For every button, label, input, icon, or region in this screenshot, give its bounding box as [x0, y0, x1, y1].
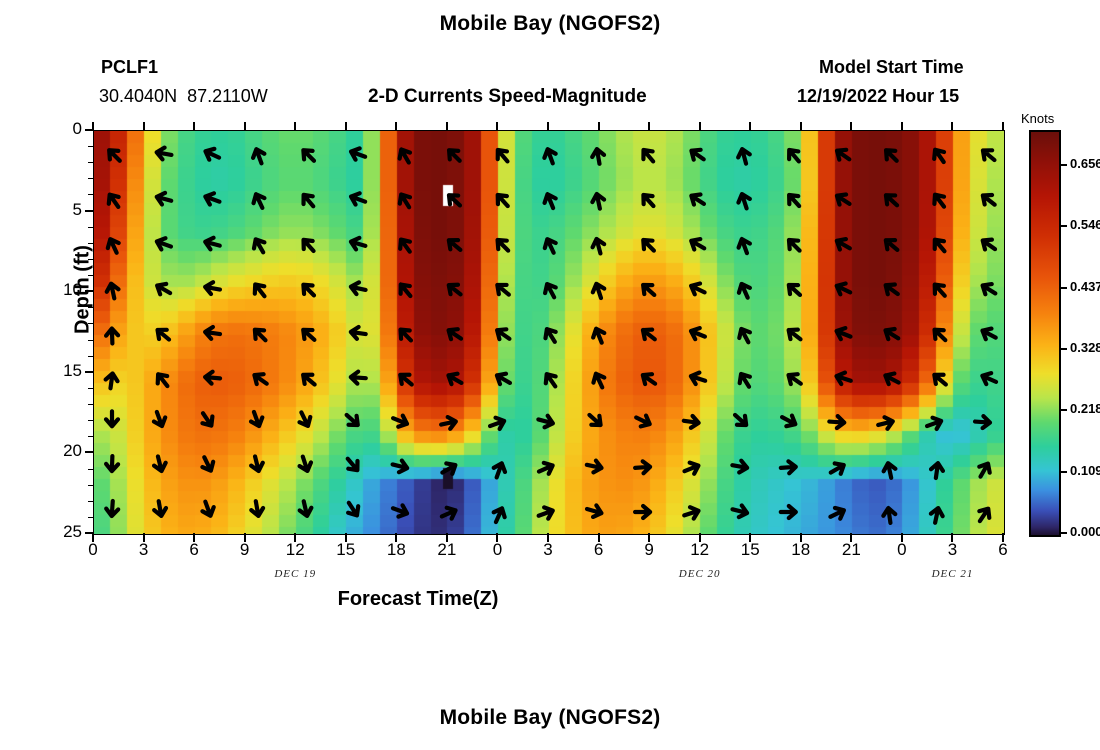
current-direction-arrow	[829, 416, 845, 429]
x-axis-tick-label: 0	[477, 540, 517, 560]
current-direction-arrow	[251, 370, 270, 388]
current-direction-arrow	[251, 147, 267, 165]
current-direction-arrow	[542, 281, 560, 300]
y-axis-minor-tick	[88, 388, 94, 389]
current-direction-arrow	[440, 416, 457, 431]
current-direction-arrow	[396, 147, 414, 166]
current-direction-arrow	[105, 237, 122, 256]
current-direction-arrow	[156, 146, 173, 160]
current-direction-arrow	[445, 325, 464, 343]
y-axis-tick	[85, 290, 94, 292]
current-direction-arrow	[785, 370, 804, 388]
current-direction-arrow	[491, 461, 507, 479]
colorbar-tick-label: 0.65625	[1070, 156, 1100, 171]
current-direction-arrow	[199, 455, 216, 474]
current-direction-arrow	[493, 191, 512, 210]
current-direction-arrow	[828, 505, 847, 522]
x-axis-top-tick	[850, 122, 852, 131]
x-axis-tick	[395, 533, 397, 542]
y-axis-tick-label: 0	[36, 119, 82, 139]
x-axis-tick-label: 21	[427, 540, 467, 560]
colorbar-tick-label: 0.4375	[1070, 279, 1100, 294]
x-axis-tick-label: 18	[781, 540, 821, 560]
current-direction-arrow	[542, 371, 560, 390]
current-direction-arrow	[105, 373, 119, 390]
current-direction-arrow	[445, 236, 464, 255]
current-direction-arrow	[731, 504, 748, 519]
current-direction-arrow	[537, 460, 556, 477]
colorbar-tick	[1059, 164, 1067, 166]
current-direction-arrow	[882, 507, 896, 524]
y-axis-tick-label: 10	[36, 280, 82, 300]
x-axis-tick	[547, 533, 549, 542]
bottom-title: Mobile Bay (NGOFS2)	[0, 706, 1100, 730]
x-axis-top-tick	[446, 122, 448, 131]
current-direction-arrow	[106, 456, 119, 471]
current-direction-arrow	[689, 370, 707, 386]
x-axis-tick	[699, 533, 701, 542]
current-direction-arrow	[834, 191, 853, 209]
current-direction-arrow	[349, 236, 367, 252]
x-axis-tick-label: 12	[275, 540, 315, 560]
current-direction-arrow	[639, 280, 658, 299]
current-arrow-overlay	[94, 131, 1004, 534]
current-direction-arrow	[248, 410, 264, 428]
current-direction-arrow	[731, 410, 750, 429]
current-direction-arrow	[493, 280, 512, 299]
y-axis-tick-label: 15	[36, 361, 82, 381]
current-direction-arrow	[542, 326, 560, 345]
x-axis-tick-label: 9	[225, 540, 265, 560]
x-axis-tick	[345, 533, 347, 542]
y-axis-minor-tick	[88, 243, 94, 244]
current-direction-arrow	[542, 192, 559, 210]
x-axis-top-tick	[345, 122, 347, 131]
current-direction-arrow	[396, 370, 415, 389]
x-axis-tick	[143, 533, 145, 542]
current-direction-arrow	[688, 146, 707, 164]
current-direction-arrow	[105, 282, 120, 299]
current-direction-arrow	[106, 328, 119, 343]
current-direction-arrow	[688, 280, 707, 297]
x-axis-top-tick	[598, 122, 600, 131]
current-direction-arrow	[785, 325, 804, 344]
current-direction-arrow	[493, 236, 512, 255]
y-axis-minor-tick	[88, 420, 94, 421]
current-direction-arrow	[930, 325, 949, 344]
current-direction-arrow	[537, 505, 555, 521]
current-direction-arrow	[834, 236, 853, 254]
current-direction-arrow	[349, 191, 367, 207]
current-direction-arrow	[198, 410, 216, 429]
current-direction-arrow	[781, 506, 796, 518]
current-direction-arrow	[980, 370, 999, 387]
current-direction-arrow	[979, 236, 998, 254]
current-direction-arrow	[882, 236, 901, 255]
current-direction-arrow	[299, 281, 318, 300]
current-direction-arrow	[929, 507, 944, 524]
current-direction-arrow	[200, 500, 216, 518]
x-axis-top-tick	[92, 122, 94, 131]
current-direction-arrow	[639, 325, 658, 344]
y-axis-minor-tick	[88, 146, 94, 147]
current-direction-arrow	[344, 500, 362, 519]
y-axis-minor-tick	[88, 517, 94, 518]
current-direction-arrow	[585, 410, 604, 429]
heatmap-plot-area	[93, 130, 1005, 535]
current-direction-arrow	[930, 281, 949, 300]
y-axis-tick	[85, 451, 94, 453]
current-direction-arrow	[736, 192, 752, 210]
current-direction-arrow	[683, 415, 700, 429]
current-direction-arrow	[780, 461, 796, 474]
x-axis-top-tick	[143, 122, 145, 131]
current-direction-arrow	[882, 146, 901, 165]
current-direction-arrow	[591, 237, 606, 255]
x-axis-tick	[951, 533, 953, 542]
current-direction-arrow	[930, 370, 949, 389]
current-direction-arrow	[490, 506, 507, 525]
x-axis-day-label: DEC 20	[655, 568, 745, 580]
current-direction-arrow	[882, 462, 897, 479]
x-axis-top-tick	[800, 122, 802, 131]
current-direction-arrow	[396, 325, 415, 344]
current-direction-arrow	[155, 236, 173, 252]
x-axis-top-tick	[1002, 122, 1004, 131]
current-direction-arrow	[979, 280, 998, 298]
current-direction-arrow	[106, 501, 119, 517]
x-axis-top-tick	[395, 122, 397, 131]
current-direction-arrow	[493, 146, 512, 165]
x-axis-tick-label: 12	[680, 540, 720, 560]
current-direction-arrow	[439, 460, 458, 478]
y-axis-minor-tick	[88, 340, 94, 341]
current-direction-arrow	[297, 455, 313, 473]
current-direction-arrow	[542, 237, 559, 256]
x-axis-tick	[496, 533, 498, 542]
x-axis-tick-label: 9	[629, 540, 669, 560]
current-direction-arrow	[975, 505, 993, 524]
current-direction-arrow	[689, 325, 707, 342]
model-start-time-label: Model Start Time	[819, 57, 964, 78]
current-direction-arrow	[834, 280, 853, 297]
current-direction-arrow	[882, 191, 901, 210]
x-axis-tick	[850, 533, 852, 542]
x-axis-tick	[901, 533, 903, 542]
current-direction-arrow	[350, 371, 366, 384]
y-axis-minor-tick	[88, 469, 94, 470]
x-axis-tick-label: 15	[326, 540, 366, 560]
current-direction-arrow	[343, 455, 362, 474]
chart-subtitle: 2-D Currents Speed-Magnitude	[368, 86, 647, 108]
current-direction-arrow	[591, 327, 608, 345]
x-axis-top-tick	[749, 122, 751, 131]
current-direction-arrow	[688, 236, 707, 254]
colorbar-tick-label: 0.00000	[1070, 524, 1100, 539]
current-direction-arrow	[785, 280, 804, 299]
current-direction-arrow	[203, 191, 221, 207]
x-axis-tick-label: 18	[376, 540, 416, 560]
current-direction-arrow	[682, 460, 700, 477]
current-direction-arrow	[154, 280, 173, 298]
colorbar-tick-label: 0.328125	[1070, 340, 1100, 355]
current-direction-arrow	[251, 236, 269, 255]
x-axis-tick-label: 3	[124, 540, 164, 560]
x-axis-label-wrap: Forecast Time(Z)	[0, 588, 968, 611]
current-direction-arrow	[488, 415, 506, 431]
current-direction-arrow	[639, 370, 658, 388]
page-title: Mobile Bay (NGOFS2)	[0, 12, 1100, 36]
current-direction-arrow	[152, 455, 167, 472]
x-axis-tick-label: 3	[528, 540, 568, 560]
current-direction-arrow	[153, 371, 172, 390]
model-start-time-value: 12/19/2022 Hour 15	[797, 86, 959, 107]
current-direction-arrow	[391, 413, 409, 430]
x-axis-top-tick	[951, 122, 953, 131]
current-direction-arrow	[445, 146, 464, 165]
current-direction-arrow	[979, 146, 998, 165]
current-direction-arrow	[925, 415, 943, 431]
current-direction-arrow	[835, 370, 853, 386]
y-axis-minor-tick	[88, 227, 94, 228]
current-direction-arrow	[834, 325, 852, 342]
y-axis-minor-tick	[88, 485, 94, 486]
x-axis-tick	[446, 533, 448, 542]
current-direction-arrow	[639, 236, 658, 255]
current-direction-arrow	[979, 191, 998, 210]
current-direction-arrow	[445, 280, 464, 299]
current-direction-arrow	[249, 455, 264, 472]
y-axis-minor-tick	[88, 436, 94, 437]
current-direction-arrow	[350, 326, 367, 340]
current-direction-arrow	[586, 459, 603, 474]
current-direction-arrow	[736, 237, 752, 255]
x-axis-tick-label: 6	[174, 540, 214, 560]
current-direction-arrow	[153, 500, 167, 517]
y-axis-minor-tick	[88, 259, 94, 260]
current-direction-arrow	[494, 325, 513, 343]
current-direction-arrow	[882, 325, 901, 343]
current-direction-arrow	[736, 282, 753, 301]
current-direction-arrow	[883, 370, 902, 388]
current-direction-arrow	[396, 236, 415, 255]
station-id: PCLF1	[101, 57, 158, 78]
station-coordinates: 30.4040N 87.2110W	[99, 86, 268, 107]
y-axis-tick	[85, 210, 94, 212]
current-direction-arrow	[731, 459, 748, 473]
current-direction-arrow	[736, 326, 754, 345]
x-axis-tick-label: 0	[882, 540, 922, 560]
current-direction-arrow	[396, 191, 414, 210]
current-direction-arrow	[154, 325, 173, 344]
colorbar-tick	[1059, 471, 1067, 473]
current-direction-arrow	[155, 191, 173, 206]
current-direction-arrow	[204, 281, 221, 295]
y-axis-minor-tick	[88, 307, 94, 308]
x-axis-tick	[648, 533, 650, 542]
y-axis-minor-tick	[88, 323, 94, 324]
x-axis-top-tick	[901, 122, 903, 131]
colorbar-tick	[1059, 532, 1067, 534]
current-direction-arrow	[785, 236, 804, 255]
current-direction-arrow	[930, 236, 949, 255]
current-direction-arrow	[391, 503, 409, 519]
current-direction-arrow	[975, 461, 993, 480]
current-direction-arrow	[635, 506, 650, 518]
x-axis-tick	[193, 533, 195, 542]
current-direction-arrow	[350, 281, 367, 296]
x-axis-top-tick	[294, 122, 296, 131]
colorbar-tick	[1059, 348, 1067, 350]
current-direction-arrow	[251, 325, 270, 344]
colorbar-tick	[1059, 287, 1067, 289]
current-direction-arrow	[591, 282, 607, 300]
y-axis-tick-label: 5	[36, 200, 82, 220]
current-direction-arrow	[736, 371, 754, 390]
colorbar-labels	[1029, 105, 1100, 550]
current-direction-arrow	[105, 191, 123, 210]
y-axis-minor-tick	[88, 501, 94, 502]
current-direction-arrow	[391, 459, 408, 474]
current-direction-arrow	[299, 325, 318, 344]
current-direction-arrow	[877, 416, 894, 431]
current-direction-arrow	[205, 371, 221, 384]
x-axis-tick-label: 6	[579, 540, 619, 560]
current-direction-arrow	[445, 191, 464, 210]
current-direction-arrow	[349, 146, 367, 162]
y-axis-minor-tick	[88, 356, 94, 357]
current-direction-arrow	[634, 412, 653, 429]
current-direction-arrow	[639, 146, 658, 165]
current-direction-arrow	[591, 193, 606, 210]
current-direction-arrow	[779, 412, 798, 430]
x-axis-day-label: DEC 19	[250, 568, 340, 580]
x-axis-tick	[244, 533, 246, 542]
y-axis-minor-tick	[88, 275, 94, 276]
x-axis-top-tick	[244, 122, 246, 131]
current-direction-arrow	[828, 460, 847, 478]
x-axis-tick-label: 15	[730, 540, 770, 560]
current-direction-arrow	[542, 147, 558, 165]
current-direction-arrow	[203, 146, 222, 163]
current-direction-arrow	[296, 410, 313, 429]
colorbar-tick-label: 0.109375	[1070, 463, 1100, 478]
current-direction-arrow	[299, 370, 318, 389]
colorbar-tick	[1059, 409, 1067, 411]
x-axis-tick	[598, 533, 600, 542]
current-direction-arrow	[785, 191, 804, 210]
current-direction-arrow	[106, 411, 118, 426]
colorbar-tick-label: 0.21875	[1070, 401, 1100, 416]
x-axis-tick-label: 0	[73, 540, 113, 560]
current-direction-arrow	[299, 191, 318, 210]
current-direction-arrow	[251, 192, 268, 211]
current-direction-arrow	[439, 505, 458, 522]
y-axis-minor-tick	[88, 178, 94, 179]
current-direction-arrow	[591, 148, 605, 165]
current-direction-arrow	[494, 370, 513, 388]
current-direction-arrow	[639, 191, 658, 210]
x-axis-tick	[92, 533, 94, 542]
current-direction-arrow	[882, 280, 901, 299]
current-direction-arrow	[204, 236, 222, 251]
current-direction-arrow	[445, 370, 464, 388]
current-direction-arrow	[930, 191, 949, 210]
y-axis-minor-tick	[88, 404, 94, 405]
x-axis-label: Forecast Time(Z)	[338, 588, 499, 610]
current-direction-arrow	[930, 146, 948, 165]
x-axis-day-label: DEC 21	[907, 568, 997, 580]
y-axis-minor-tick	[88, 194, 94, 195]
x-axis-tick	[1002, 533, 1004, 542]
colorbar-tick	[1059, 225, 1067, 227]
x-axis-tick-label: 6	[983, 540, 1023, 560]
x-axis-tick-label: 3	[932, 540, 972, 560]
x-axis-top-tick	[699, 122, 701, 131]
current-direction-arrow	[635, 461, 651, 474]
x-axis-top-tick	[547, 122, 549, 131]
current-direction-arrow	[682, 505, 700, 521]
y-axis-tick-label: 20	[36, 441, 82, 461]
colorbar-tick-label: 0.546875	[1070, 217, 1100, 232]
x-axis-top-tick	[496, 122, 498, 131]
current-direction-arrow	[151, 410, 167, 428]
x-axis-top-tick	[648, 122, 650, 131]
current-direction-arrow	[736, 148, 751, 166]
y-axis-tick-label: 25	[36, 522, 82, 542]
current-direction-arrow	[343, 410, 362, 429]
x-axis-tick	[800, 533, 802, 542]
x-axis-tick	[749, 533, 751, 542]
current-direction-arrow	[396, 281, 415, 300]
x-axis-tick	[294, 533, 296, 542]
y-axis-tick	[85, 371, 94, 373]
current-direction-arrow	[585, 503, 603, 519]
current-direction-arrow	[537, 414, 555, 429]
current-direction-arrow	[930, 462, 944, 479]
current-direction-arrow	[785, 146, 804, 165]
current-direction-arrow	[298, 500, 313, 517]
y-axis-minor-tick	[88, 162, 94, 163]
current-direction-arrow	[834, 146, 853, 164]
current-direction-arrow	[975, 416, 991, 429]
current-direction-arrow	[251, 281, 270, 300]
current-direction-arrow	[980, 325, 999, 343]
current-direction-arrow	[688, 191, 707, 209]
current-direction-arrow	[590, 371, 607, 390]
current-direction-arrow	[299, 236, 318, 255]
current-direction-arrow	[105, 146, 124, 165]
current-direction-arrow	[299, 146, 318, 165]
current-direction-arrow	[250, 500, 264, 517]
current-direction-arrow	[204, 326, 221, 340]
x-axis-tick-label: 21	[831, 540, 871, 560]
x-axis-top-tick	[193, 122, 195, 131]
